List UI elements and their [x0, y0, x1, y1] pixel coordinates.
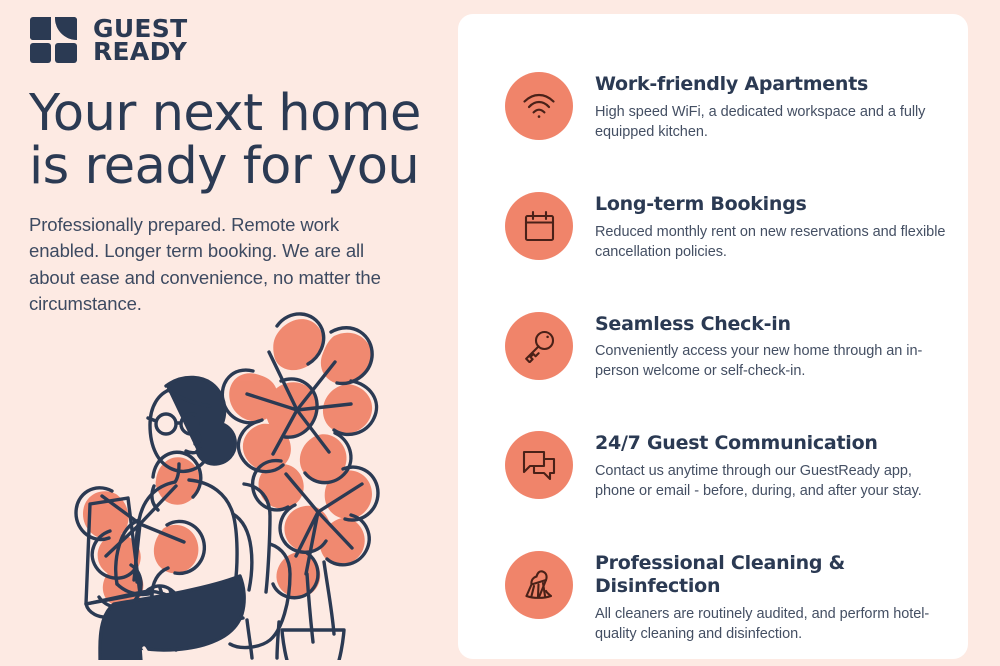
four-square-grid-icon: [29, 16, 79, 64]
hero-column: GUEST READY Your next home is ready for …: [0, 0, 458, 666]
feature-text: Long-term Bookings Reduced monthly rent …: [595, 190, 952, 262]
feature-description: Contact us anytime through our GuestRead…: [595, 461, 952, 501]
feature-title: Seamless Check-in: [595, 313, 952, 336]
key-icon: [505, 312, 573, 380]
list-item: Long-term Bookings Reduced monthly rent …: [505, 190, 952, 262]
feature-description: Conveniently access your new home throug…: [595, 341, 952, 381]
list-item: Professional Cleaning & Disinfection All…: [505, 549, 952, 644]
features-card: Work-friendly Apartments High speed WiFi…: [458, 14, 968, 659]
promo-page: GUEST READY Your next home is ready for …: [0, 0, 1000, 666]
page-subtitle: Professionally prepared. Remote work ena…: [29, 212, 414, 317]
calendar-icon: [505, 192, 573, 260]
chat-bubbles-icon: [505, 431, 573, 499]
feature-description: Reduced monthly rent on new reservations…: [595, 222, 952, 262]
feature-description: All cleaners are routinely audited, and …: [595, 604, 952, 644]
page-title: Your next home is ready for you: [29, 88, 439, 193]
feature-title: Professional Cleaning & Disinfection: [595, 552, 952, 598]
wifi-icon: [505, 72, 573, 140]
feature-text: Professional Cleaning & Disinfection All…: [595, 549, 952, 644]
list-item: Work-friendly Apartments High speed WiFi…: [505, 70, 952, 142]
list-item: Seamless Check-in Conveniently access yo…: [505, 310, 952, 382]
feature-title: Long-term Bookings: [595, 193, 952, 216]
brand-name-line-2: READY: [93, 40, 187, 63]
brand-logo[interactable]: GUEST READY: [29, 16, 187, 64]
feature-text: Seamless Check-in Conveniently access yo…: [595, 310, 952, 382]
broom-icon: [505, 551, 573, 619]
hero-illustration: [48, 312, 448, 660]
feature-text: Work-friendly Apartments High speed WiFi…: [595, 70, 952, 142]
list-item: 24/7 Guest Communication Contact us anyt…: [505, 429, 952, 501]
feature-title: Work-friendly Apartments: [595, 73, 952, 96]
feature-text: 24/7 Guest Communication Contact us anyt…: [595, 429, 952, 501]
feature-title: 24/7 Guest Communication: [595, 432, 952, 455]
brand-wordmark: GUEST READY: [93, 17, 187, 63]
feature-description: High speed WiFi, a dedicated workspace a…: [595, 102, 952, 142]
feature-list: Work-friendly Apartments High speed WiFi…: [505, 70, 952, 644]
